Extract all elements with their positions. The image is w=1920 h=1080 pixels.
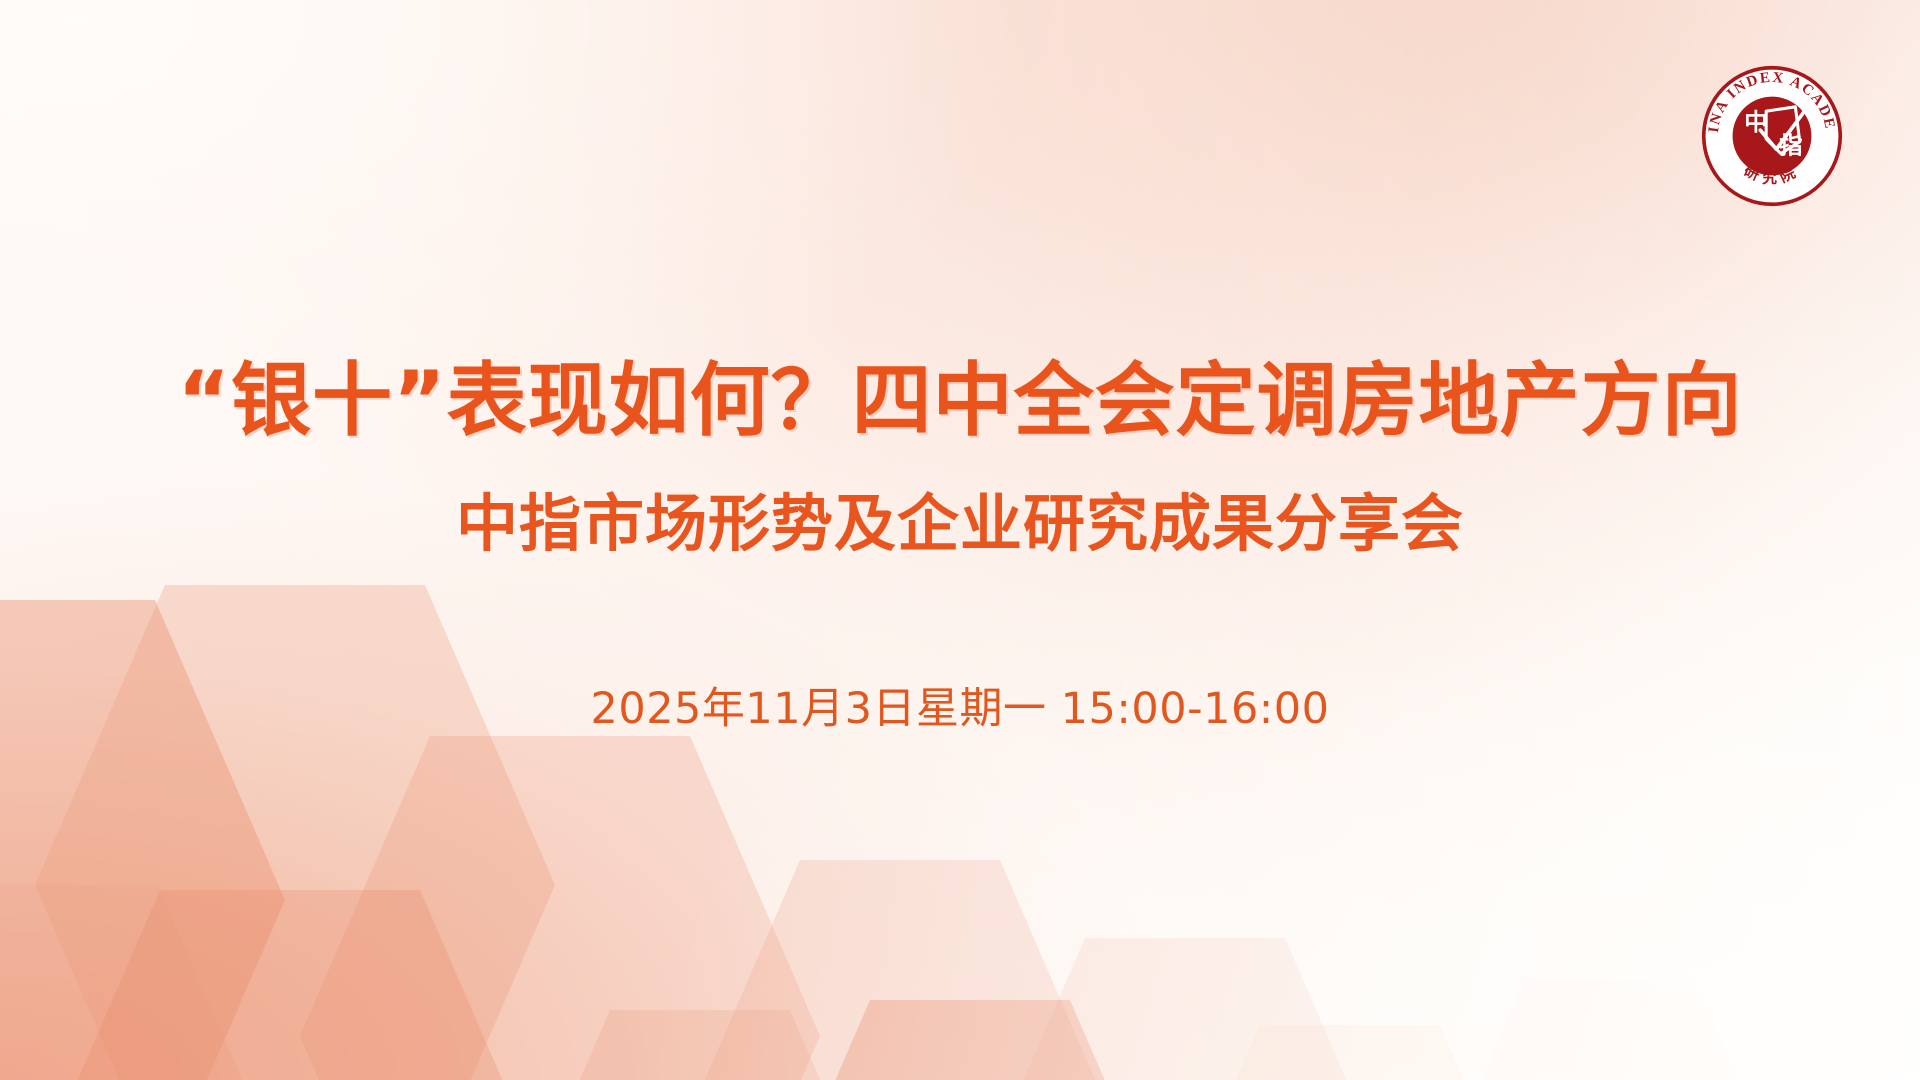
poster-title: “银十”表现如何？四中全会定调房地产方向 <box>0 360 1920 442</box>
china-index-academy-logo: CHINA INDEX ACADEMY 研究院 中 指 <box>1699 63 1845 209</box>
poster-datetime: 2025年11月3日星期一 15:00-16:00 <box>0 674 1920 736</box>
logo-center-char-top: 中 <box>1744 108 1767 136</box>
logo-center-char-bottom: 指 <box>1779 132 1802 160</box>
poster-subtitle: 中指市场形势及企业研究成果分享会 <box>0 490 1920 558</box>
poster-canvas: CHINA INDEX ACADEMY 研究院 中 指 “银十”表现如何？四中全… <box>0 0 1920 1080</box>
